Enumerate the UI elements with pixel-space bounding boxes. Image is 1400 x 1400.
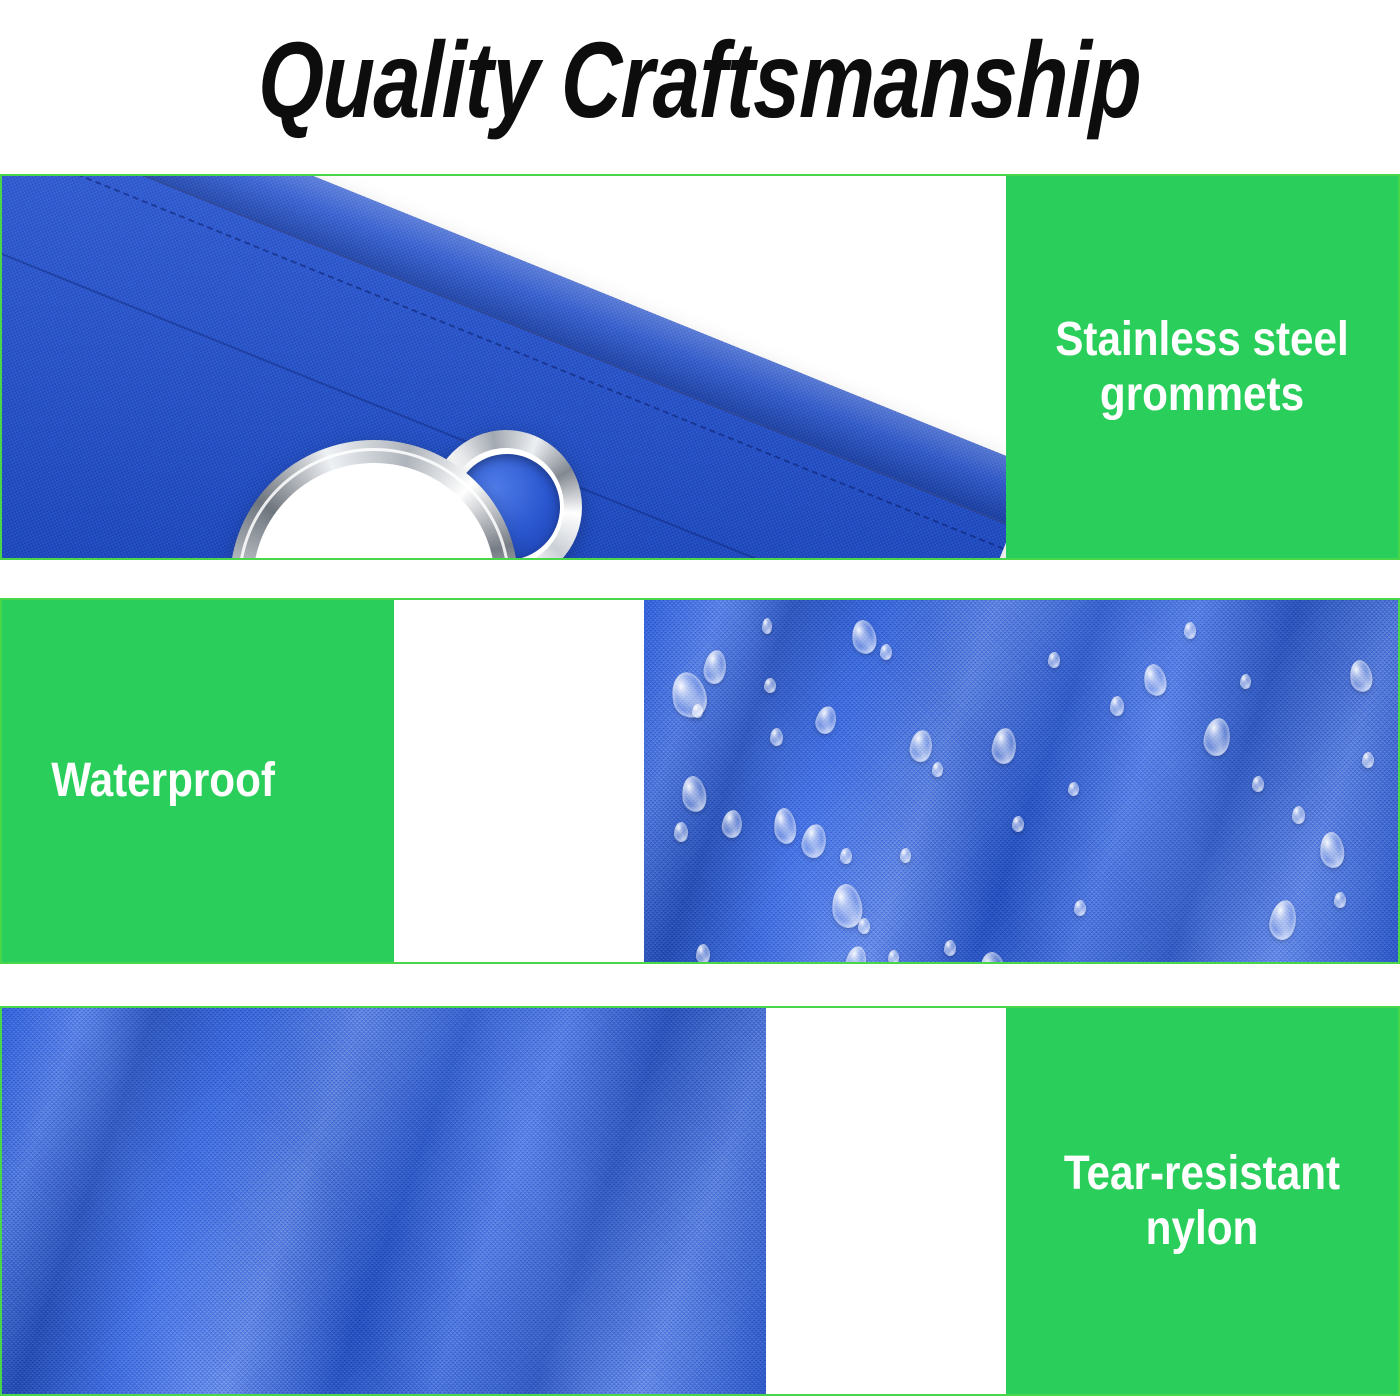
- water-droplet: [858, 918, 870, 934]
- feature-label-grommets: Stainless steel grommets: [1030, 312, 1375, 422]
- water-droplet: [900, 848, 911, 863]
- water-droplet: [840, 848, 852, 864]
- water-droplet: [1074, 900, 1086, 916]
- page-title-bar: Quality Craftsmanship: [0, 0, 1400, 160]
- water-droplet: [674, 822, 688, 842]
- water-droplet: [1240, 674, 1251, 689]
- page-title: Quality Craftsmanship: [257, 26, 1142, 134]
- water-droplet: [692, 704, 703, 718]
- feature-panel-waterproof: Waterproof: [0, 598, 1400, 964]
- water-droplet: [1012, 816, 1024, 832]
- waterproof-spacer: [394, 600, 644, 962]
- blue-fabric-background: [644, 600, 1398, 962]
- water-droplet: [1292, 806, 1305, 824]
- feature-label-tear-resistant: Tear-resistant nylon: [1030, 1146, 1375, 1256]
- tear-resistant-label-block: Tear-resistant nylon: [1006, 1008, 1398, 1394]
- tear-resistant-photo: [2, 1008, 766, 1394]
- grommets-label-block: Stainless steel grommets: [1006, 176, 1398, 558]
- water-droplet: [1362, 752, 1374, 768]
- water-droplet: [1334, 892, 1346, 908]
- water-droplet: [944, 940, 956, 956]
- water-droplet: [1184, 622, 1196, 639]
- water-droplet: [880, 644, 892, 660]
- feature-panel-tear-resistant: Tear-resistant nylon: [0, 1006, 1400, 1396]
- waterproof-label-block: Waterproof: [2, 600, 394, 962]
- waterproof-photo: [644, 600, 1398, 962]
- water-droplet: [932, 762, 943, 777]
- water-droplet: [1110, 696, 1124, 716]
- infographic-page: Quality Craftsmanship Stainless steel gr…: [0, 0, 1400, 1400]
- water-droplet: [770, 728, 783, 746]
- feature-label-waterproof: Waterproof: [2, 753, 347, 808]
- water-droplet: [764, 678, 776, 693]
- blue-nylon-fabric: [2, 1008, 766, 1394]
- grommet-photo: [2, 176, 1006, 558]
- water-droplet: [762, 618, 772, 634]
- water-droplet: [1068, 782, 1079, 796]
- feature-panel-grommets: Stainless steel grommets: [0, 174, 1400, 560]
- grommet-photo-stage: [2, 176, 1006, 558]
- tear-resistant-spacer: [766, 1008, 1006, 1394]
- water-droplet: [888, 950, 899, 962]
- water-droplet: [1048, 652, 1060, 668]
- water-droplet: [1252, 776, 1264, 792]
- water-droplet: [696, 944, 710, 962]
- fabric-drape-shading-secondary: [2, 1008, 766, 1394]
